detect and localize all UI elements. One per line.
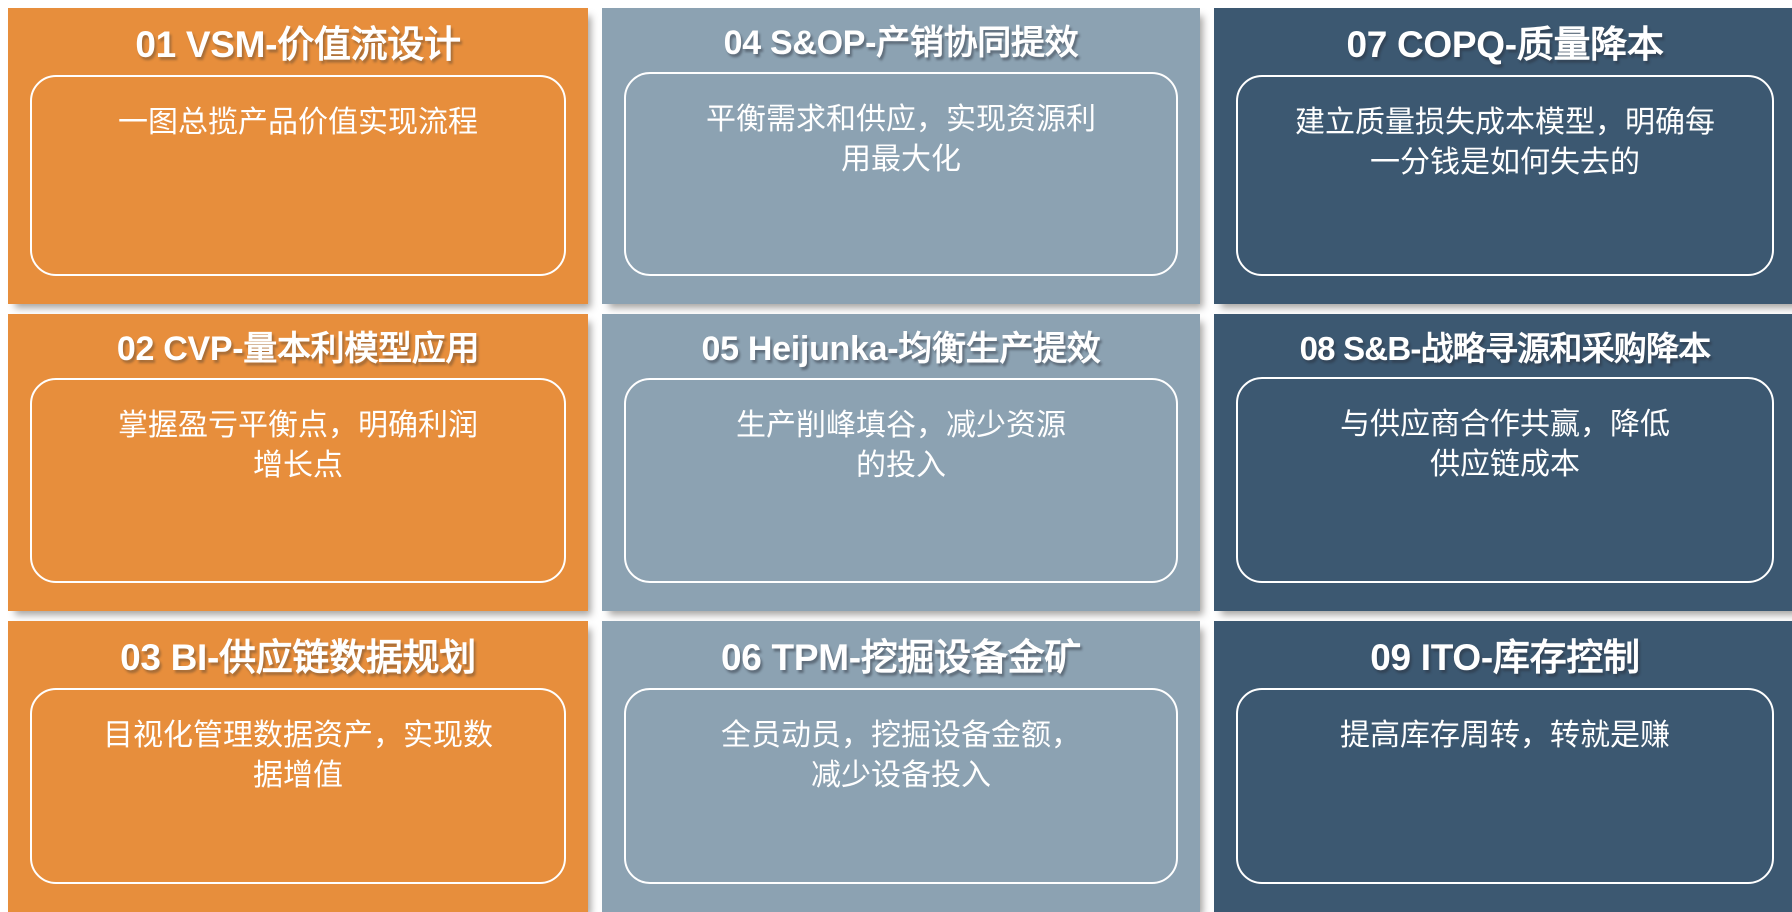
card-09-ito[interactable]: 09 ITO-库存控制 提高库存周转，转就是赚 bbox=[1214, 621, 1792, 912]
card-title: 01 VSM-价值流设计 bbox=[8, 8, 588, 75]
card-02-cvp[interactable]: 02 CVP-量本利模型应用 掌握盈亏平衡点，明确利润 增长点 bbox=[8, 314, 588, 611]
card-title: 09 ITO-库存控制 bbox=[1214, 621, 1792, 688]
card-07-copq[interactable]: 07 COPQ-质量降本 建立质量损失成本模型，明确每 一分钱是如何失去的 bbox=[1214, 8, 1792, 304]
card-description: 全员动员，挖掘设备金额， 减少设备投入 bbox=[721, 716, 1081, 797]
card-description: 一图总揽产品价值实现流程 bbox=[118, 103, 478, 144]
card-title: 06 TPM-挖掘设备金矿 bbox=[602, 621, 1200, 688]
card-description: 建立质量损失成本模型，明确每 一分钱是如何失去的 bbox=[1295, 103, 1715, 184]
card-grid: 01 VSM-价值流设计 一图总揽产品价值实现流程 04 S&OP-产销协同提效… bbox=[8, 8, 1782, 888]
card-description-box: 全员动员，挖掘设备金额， 减少设备投入 bbox=[624, 688, 1178, 884]
card-05-heijunka[interactable]: 05 Heijunka-均衡生产提效 生产削峰填谷，减少资源 的投入 bbox=[602, 314, 1200, 611]
card-description-box: 目视化管理数据资产，实现数 据增值 bbox=[30, 688, 566, 884]
card-title: 03 BI-供应链数据规划 bbox=[8, 621, 588, 688]
card-description-box: 生产削峰填谷，减少资源 的投入 bbox=[624, 378, 1178, 583]
card-description-box: 建立质量损失成本模型，明确每 一分钱是如何失去的 bbox=[1236, 75, 1774, 276]
card-description: 提高库存周转，转就是赚 bbox=[1340, 716, 1670, 757]
card-title: 05 Heijunka-均衡生产提效 bbox=[602, 314, 1200, 378]
card-title: 04 S&OP-产销协同提效 bbox=[602, 8, 1200, 72]
card-title: 08 S&B-战略寻源和采购降本 bbox=[1214, 314, 1792, 377]
card-description: 平衡需求和供应，实现资源利 用最大化 bbox=[706, 100, 1096, 181]
slide-board: 01 VSM-价值流设计 一图总揽产品价值实现流程 04 S&OP-产销协同提效… bbox=[0, 0, 1792, 900]
card-description-box: 与供应商合作共赢，降低 供应链成本 bbox=[1236, 377, 1774, 583]
card-description: 掌握盈亏平衡点，明确利润 增长点 bbox=[118, 406, 478, 487]
card-description: 目视化管理数据资产，实现数 据增值 bbox=[103, 716, 493, 797]
card-description-box: 一图总揽产品价值实现流程 bbox=[30, 75, 566, 276]
card-title: 02 CVP-量本利模型应用 bbox=[8, 314, 588, 378]
card-description-box: 提高库存周转，转就是赚 bbox=[1236, 688, 1774, 884]
card-description-box: 平衡需求和供应，实现资源利 用最大化 bbox=[624, 72, 1178, 276]
card-title: 07 COPQ-质量降本 bbox=[1214, 8, 1792, 75]
card-description: 生产削峰填谷，减少资源 的投入 bbox=[736, 406, 1066, 487]
card-01-vsm[interactable]: 01 VSM-价值流设计 一图总揽产品价值实现流程 bbox=[8, 8, 588, 304]
card-06-tpm[interactable]: 06 TPM-挖掘设备金矿 全员动员，挖掘设备金额， 减少设备投入 bbox=[602, 621, 1200, 912]
card-description: 与供应商合作共赢，降低 供应链成本 bbox=[1340, 405, 1670, 486]
card-04-sop[interactable]: 04 S&OP-产销协同提效 平衡需求和供应，实现资源利 用最大化 bbox=[602, 8, 1200, 304]
card-description-box: 掌握盈亏平衡点，明确利润 增长点 bbox=[30, 378, 566, 583]
card-08-sb[interactable]: 08 S&B-战略寻源和采购降本 与供应商合作共赢，降低 供应链成本 bbox=[1214, 314, 1792, 611]
card-03-bi[interactable]: 03 BI-供应链数据规划 目视化管理数据资产，实现数 据增值 bbox=[8, 621, 588, 912]
